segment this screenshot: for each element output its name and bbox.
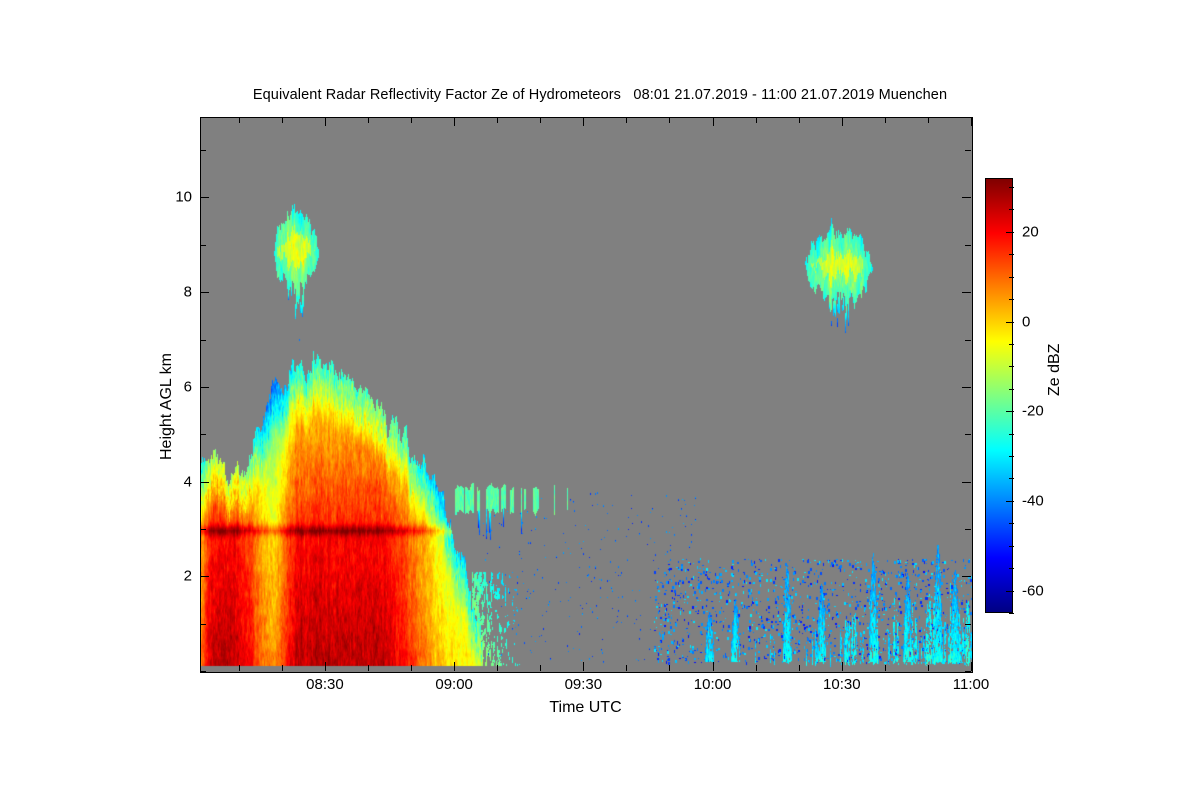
x-axis-tick <box>282 665 283 671</box>
colorbar-tick-label: -40 <box>1022 492 1044 509</box>
colorbar-tick-label: 0 <box>1022 313 1030 330</box>
x-axis-tick-top <box>325 117 326 126</box>
x-axis-tick <box>626 665 627 671</box>
x-axis-tick <box>928 665 929 671</box>
colorbar-minor-tick <box>1009 613 1014 614</box>
colorbar-minor-tick <box>1009 344 1014 345</box>
x-axis-tick <box>368 665 369 671</box>
y-axis-tick <box>200 340 206 341</box>
y-axis-tick <box>200 197 209 198</box>
colorbar-tick <box>1006 591 1014 592</box>
x-axis-tick-label: 09:00 <box>435 676 473 693</box>
x-axis-tick-top <box>583 117 584 126</box>
x-axis-tick-top <box>885 117 886 123</box>
x-axis-tick <box>540 665 541 671</box>
x-axis-tick-top <box>497 117 498 123</box>
x-axis-tick <box>411 665 412 671</box>
y-axis-tick-label: 8 <box>184 284 192 301</box>
x-axis-tick-top <box>626 117 627 123</box>
y-axis-tick-right <box>962 576 971 577</box>
y-axis-tick <box>200 624 206 625</box>
colorbar-container <box>985 178 1013 613</box>
colorbar-minor-tick <box>1009 209 1014 210</box>
x-axis-tick-top <box>842 117 843 126</box>
y-axis-tick-label: 2 <box>184 568 192 585</box>
y-axis-tick <box>200 245 206 246</box>
x-axis-tick-top <box>411 117 412 123</box>
y-axis-tick <box>200 671 206 672</box>
x-axis-tick-top <box>282 117 283 123</box>
colorbar-minor-tick <box>1009 523 1014 524</box>
y-axis-tick-right <box>962 292 971 293</box>
y-axis-tick-right <box>965 671 971 672</box>
x-axis-tick <box>454 662 455 671</box>
colorbar-tick <box>1006 322 1014 323</box>
x-axis-tick-label: 08:30 <box>306 676 344 693</box>
x-axis-tick-top <box>971 117 972 126</box>
colorbar-tick-label: 20 <box>1022 223 1039 240</box>
y-axis-tick-right <box>965 245 971 246</box>
colorbar-title: Ze dBZ <box>1046 344 1064 396</box>
x-axis-tick-label: 11:00 <box>953 676 989 693</box>
colorbar-tick-label: -20 <box>1022 403 1044 420</box>
y-axis-tick <box>200 529 206 530</box>
x-axis-tick <box>971 662 972 671</box>
x-axis-tick <box>325 662 326 671</box>
colorbar-gradient <box>985 178 1013 613</box>
x-axis-tick-top <box>756 117 757 123</box>
colorbar-minor-tick <box>1009 456 1014 457</box>
x-axis-tick <box>842 662 843 671</box>
colorbar-tick <box>1006 411 1014 412</box>
colorbar-minor-tick <box>1009 187 1014 188</box>
colorbar-tick <box>1006 232 1014 233</box>
colorbar-tick <box>1006 501 1014 502</box>
y-axis-tick-right <box>965 434 971 435</box>
y-axis-tick-right <box>962 197 971 198</box>
colorbar-minor-tick <box>1009 277 1014 278</box>
colorbar-minor-tick <box>1009 568 1014 569</box>
colorbar-minor-tick <box>1009 366 1014 367</box>
y-axis-tick <box>200 150 206 151</box>
colorbar-minor-tick <box>1009 389 1014 390</box>
colorbar-minor-tick <box>1009 478 1014 479</box>
y-axis-tick-label: 4 <box>184 473 192 490</box>
radar-heatmap <box>201 118 972 672</box>
x-axis-tick <box>713 662 714 671</box>
x-axis-tick-top <box>713 117 714 126</box>
x-axis-tick-top <box>799 117 800 123</box>
y-axis-tick <box>200 434 206 435</box>
x-axis-tick-top <box>928 117 929 123</box>
colorbar-tick-label: -60 <box>1022 582 1044 599</box>
y-axis-tick <box>200 292 209 293</box>
x-axis-tick <box>669 665 670 671</box>
x-axis-tick <box>799 665 800 671</box>
y-axis-tick <box>200 482 209 483</box>
x-axis-tick-top <box>368 117 369 123</box>
x-axis-tick-top <box>454 117 455 126</box>
y-axis-tick-right <box>965 624 971 625</box>
x-axis-tick-label: 10:30 <box>823 676 861 693</box>
x-axis-tick <box>756 665 757 671</box>
y-axis-tick-right <box>962 482 971 483</box>
x-axis-tick-top <box>669 117 670 123</box>
colorbar-minor-tick <box>1009 434 1014 435</box>
colorbar-minor-tick <box>1009 254 1014 255</box>
x-axis-tick <box>497 665 498 671</box>
radar-plot-area <box>200 117 973 673</box>
x-axis-title: Time UTC <box>200 699 971 717</box>
radar-figure: Equivalent Radar Reflectivity Factor Ze … <box>0 0 1200 800</box>
y-axis-tick-right <box>965 150 971 151</box>
y-axis-tick-right <box>965 340 971 341</box>
y-axis-tick-right <box>965 529 971 530</box>
x-axis-tick <box>885 665 886 671</box>
y-axis-title: Height AGL km <box>158 353 176 460</box>
x-axis-tick-label: 09:30 <box>565 676 603 693</box>
x-axis-tick <box>583 662 584 671</box>
x-axis-tick-label: 10:00 <box>694 676 732 693</box>
y-axis-tick-label: 10 <box>175 189 192 206</box>
y-axis-tick <box>200 387 209 388</box>
y-axis-tick-right <box>962 387 971 388</box>
x-axis-tick <box>239 665 240 671</box>
colorbar-minor-tick <box>1009 299 1014 300</box>
x-axis-tick-top <box>239 117 240 123</box>
y-axis-tick <box>200 576 209 577</box>
y-axis-tick-label: 6 <box>184 378 192 395</box>
colorbar-minor-tick <box>1009 546 1014 547</box>
x-axis-tick-top <box>540 117 541 123</box>
